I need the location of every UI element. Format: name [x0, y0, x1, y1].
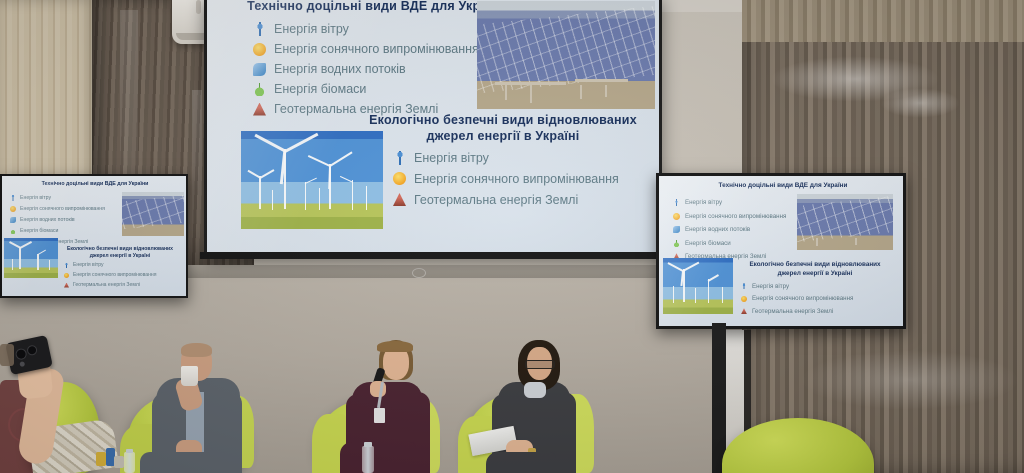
panelist-1-legs	[140, 452, 210, 473]
name-badge	[374, 408, 385, 423]
main-projection-screen[interactable]: Технічно доцільні види ВДЕ для України Е…	[204, 0, 662, 257]
right-curtain-light-2	[880, 88, 960, 118]
water-bottle-2-cap	[126, 449, 133, 453]
right-monitor-stand	[712, 323, 726, 473]
foreground-object	[0, 344, 14, 366]
left-curtain-highlight-2	[192, 90, 202, 240]
camera-flash	[19, 361, 25, 367]
panelist-3-legs	[486, 452, 556, 473]
glasses-icon	[525, 360, 555, 369]
camera-lens-1	[15, 348, 28, 361]
left-monitor-glare	[2, 176, 186, 296]
clutter-item-3	[114, 456, 124, 468]
camera-lens-2	[26, 344, 38, 356]
water-bottle-1	[362, 446, 374, 473]
screen-glare	[207, 0, 659, 254]
wall-rail-fitting	[412, 268, 426, 278]
screen-bottom-bar	[200, 252, 662, 259]
right-curtain-light-3	[800, 350, 1020, 410]
panelist-2-hair-top	[377, 341, 413, 352]
air-conditioner-pipe	[196, 0, 201, 14]
water-bottle-2	[124, 452, 135, 473]
conference-panel-screenshot: Технічно доцільні види ВДЕ для України Е…	[0, 0, 1024, 473]
right-tv-monitor[interactable]: Технічно доцільні види ВДЕ для України Е…	[656, 173, 906, 329]
necklace	[524, 382, 546, 398]
right-curtain-valance	[742, 0, 1024, 42]
panelist-2-legs	[340, 442, 416, 473]
left-tv-monitor[interactable]: Технічно доцільні види ВДЕ для України Е…	[0, 174, 188, 298]
right-monitor-glare	[659, 176, 903, 326]
clutter-item-1	[96, 452, 106, 466]
projection-screen-surface: Технічно доцільні види ВДЕ для України Е…	[207, 0, 659, 254]
paper-cup	[181, 366, 198, 386]
left-monitor-surface: Технічно доцільні види ВДЕ для України Е…	[2, 176, 186, 296]
water-bottle-1-cap	[364, 442, 372, 447]
right-monitor-surface: Технічно доцільні види ВДЕ для України Е…	[659, 176, 903, 326]
panelist-1-hair	[181, 343, 212, 357]
